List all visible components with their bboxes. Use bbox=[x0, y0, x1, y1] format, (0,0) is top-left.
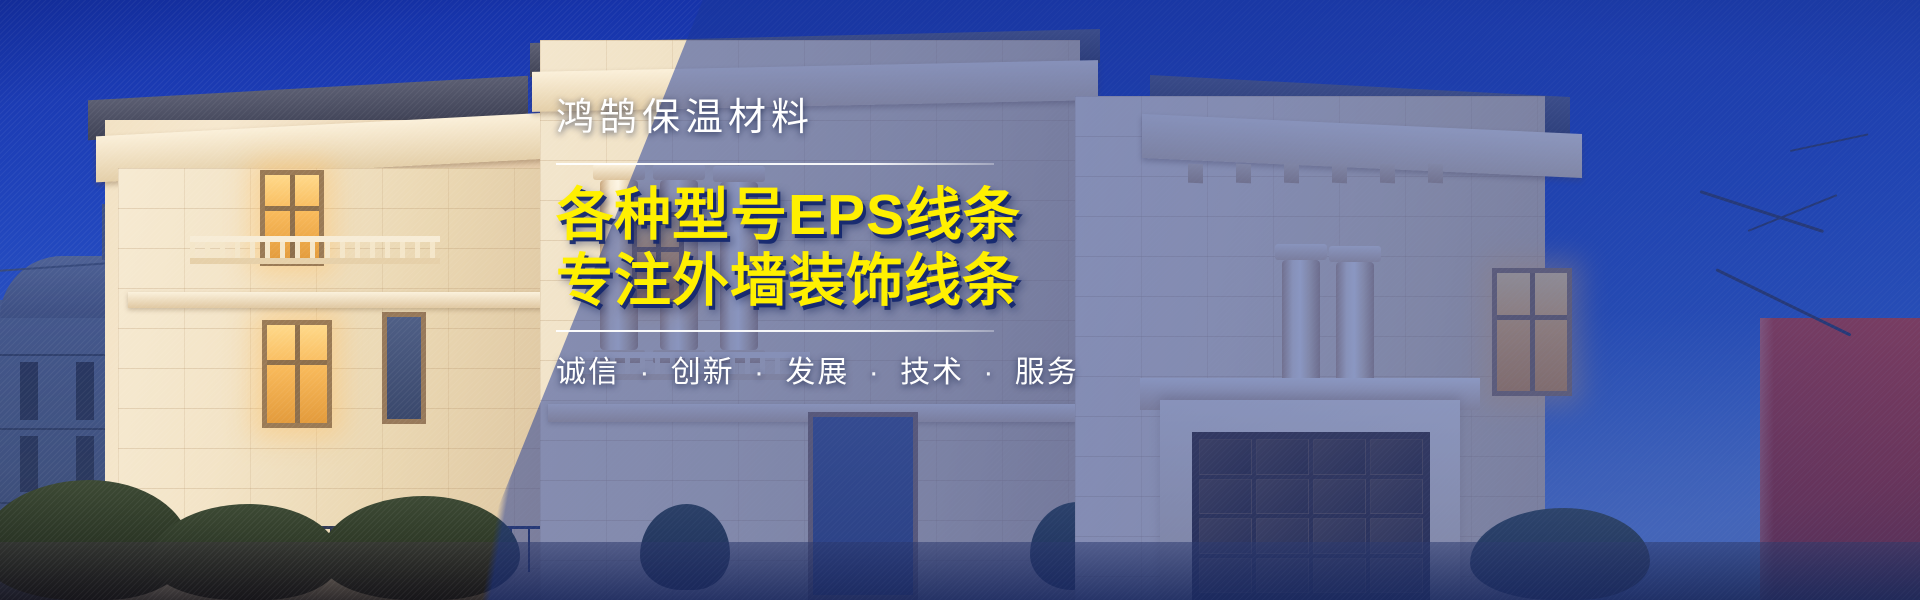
divider-top bbox=[556, 163, 994, 165]
tagline-item: 创新 bbox=[671, 356, 735, 389]
headline: 各种型号EPS线条 专注外墙装饰线条 bbox=[556, 185, 1016, 312]
left-string-course bbox=[128, 292, 558, 308]
tagline-separator: · bbox=[983, 356, 995, 389]
brand-name: 鸿鹄保温材料 bbox=[556, 96, 1016, 141]
tagline-separator: · bbox=[639, 356, 651, 389]
headline-line-1: 各种型号EPS线条 bbox=[556, 185, 1016, 245]
tagline-separator: · bbox=[869, 356, 881, 389]
banner-content: 鸿鹄保温材料 各种型号EPS线条 专注外墙装饰线条 诚信 · 创新 · 发展 ·… bbox=[556, 96, 1016, 391]
divider-bottom bbox=[556, 330, 994, 332]
left-balustrade bbox=[190, 236, 440, 264]
tagline-item: 发展 bbox=[785, 356, 849, 389]
tagline-item: 技术 bbox=[900, 356, 964, 389]
headline-line-2: 专注外墙装饰线条 bbox=[556, 251, 1016, 311]
tagline: 诚信 · 创新 · 发展 · 技术 · 服务 bbox=[556, 354, 1016, 392]
tagline-separator: · bbox=[754, 356, 766, 389]
tagline-item: 服务 bbox=[1015, 356, 1079, 389]
lit-window bbox=[262, 320, 332, 428]
tagline-item: 诚信 bbox=[556, 356, 620, 389]
dark-window bbox=[382, 312, 426, 424]
promo-banner: 鸿鹄保温材料 各种型号EPS线条 专注外墙装饰线条 诚信 · 创新 · 发展 ·… bbox=[0, 0, 1920, 600]
